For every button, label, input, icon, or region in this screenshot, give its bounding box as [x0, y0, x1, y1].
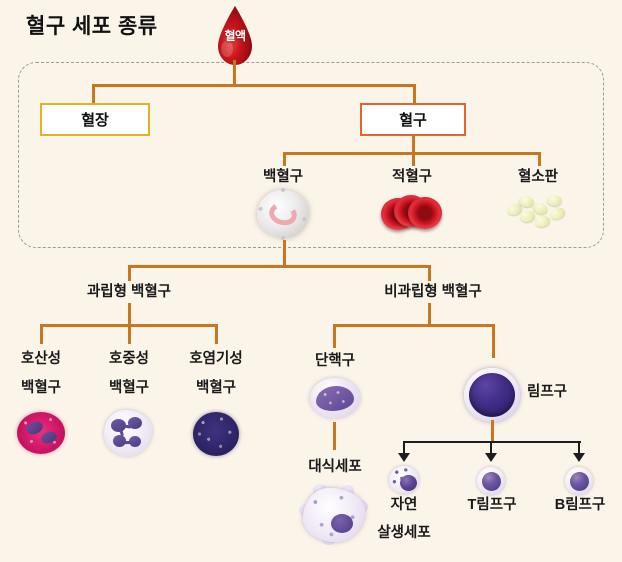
- arrowhead-b-lymphocyte-icon: [573, 453, 585, 462]
- connector-to-granulocyte: [128, 265, 131, 281]
- node-macrophage-label: 대식세포: [293, 458, 377, 476]
- node-b-lymphocyte-label: B림프구: [540, 496, 620, 514]
- node-eosinophil-label-line1: 호산성: [6, 350, 76, 368]
- lymphocyte-icon: [464, 368, 520, 422]
- node-nk-label-line1: 자연: [368, 496, 440, 514]
- natural-killer-cell-icon: [389, 466, 419, 494]
- node-nk-label-line2: 살생세포: [354, 524, 454, 542]
- node-basophil-label-line2: 백혈구: [178, 379, 254, 397]
- connector-agranulocyte-bar: [333, 324, 495, 327]
- connector-to-basophil: [215, 324, 218, 344]
- node-blood-cell-label: 혈구: [399, 109, 427, 130]
- arrowhead-t-lymphocyte-icon: [485, 453, 497, 462]
- connector-bloodcell-stem: [412, 136, 415, 153]
- node-plasma[interactable]: 혈장: [40, 103, 150, 136]
- node-platelet-label: 혈소판: [498, 168, 578, 186]
- blood-drop-icon: 혈액: [212, 5, 258, 67]
- connector-lymph-children-bar: [403, 441, 581, 443]
- connector-granulocyte-stem: [128, 303, 131, 325]
- page-title: 혈구 세포 종류: [26, 10, 158, 40]
- node-neutrophil-label-line2: 백혈구: [94, 379, 164, 397]
- connector-to-plasma: [92, 84, 95, 104]
- white-blood-cell-icon: [257, 190, 309, 238]
- node-granulocyte-label: 과립형 백혈구: [58, 283, 200, 301]
- connector-to-agranulocyte: [428, 265, 431, 281]
- connector-root-stem: [233, 60, 236, 86]
- basophil-icon: [193, 412, 239, 456]
- connector-wbc-down: [283, 240, 286, 266]
- b-lymphocyte-icon: [565, 467, 593, 495]
- blood-drop-label: 혈액: [212, 27, 258, 44]
- diagram-canvas: 혈구 세포 종류 혈액 혈장 혈구 백혈구: [0, 0, 622, 562]
- arrowhead-nk-icon: [398, 453, 410, 462]
- node-plasma-label: 혈장: [81, 109, 109, 130]
- connector-to-neutrophil: [128, 324, 131, 344]
- platelet-icon: [505, 192, 571, 230]
- node-basophil-label-line1: 호염기성: [178, 350, 254, 368]
- connector-to-lymphocyte: [492, 324, 495, 358]
- connector-level1-bar: [92, 84, 416, 87]
- monocyte-icon: [310, 378, 360, 418]
- red-blood-cell-icon: [381, 192, 443, 234]
- connector-level3-bar: [128, 265, 430, 268]
- connector-to-blood-cell: [413, 84, 416, 104]
- node-white-blood-cell-label: 백혈구: [243, 168, 323, 186]
- node-eosinophil-label-line2: 백혈구: [6, 379, 76, 397]
- connector-monocyte-to-macrophage: [333, 422, 336, 450]
- connector-lymphocyte-stem: [491, 420, 494, 442]
- connector-to-eosinophil: [40, 324, 43, 344]
- node-red-blood-cell-label: 적혈구: [372, 168, 452, 186]
- connector-to-monocyte: [333, 324, 336, 348]
- t-lymphocyte-icon: [477, 467, 505, 495]
- node-monocyte-label: 단핵구: [300, 352, 370, 370]
- neutrophil-icon: [104, 410, 152, 456]
- node-t-lymphocyte-label: T림프구: [452, 496, 532, 514]
- eosinophil-icon: [17, 412, 65, 454]
- node-blood-cell[interactable]: 혈구: [360, 103, 466, 136]
- connector-agranulocyte-stem: [428, 303, 431, 325]
- connector-to-platelet: [538, 152, 541, 166]
- node-agranulocyte-label: 비과립형 백혈구: [358, 283, 508, 301]
- node-lymphocyte-label: 림프구: [527, 383, 597, 401]
- connector-to-wbc: [283, 152, 286, 166]
- node-neutrophil-label-line1: 호중성: [94, 350, 164, 368]
- connector-to-rbc: [412, 152, 415, 166]
